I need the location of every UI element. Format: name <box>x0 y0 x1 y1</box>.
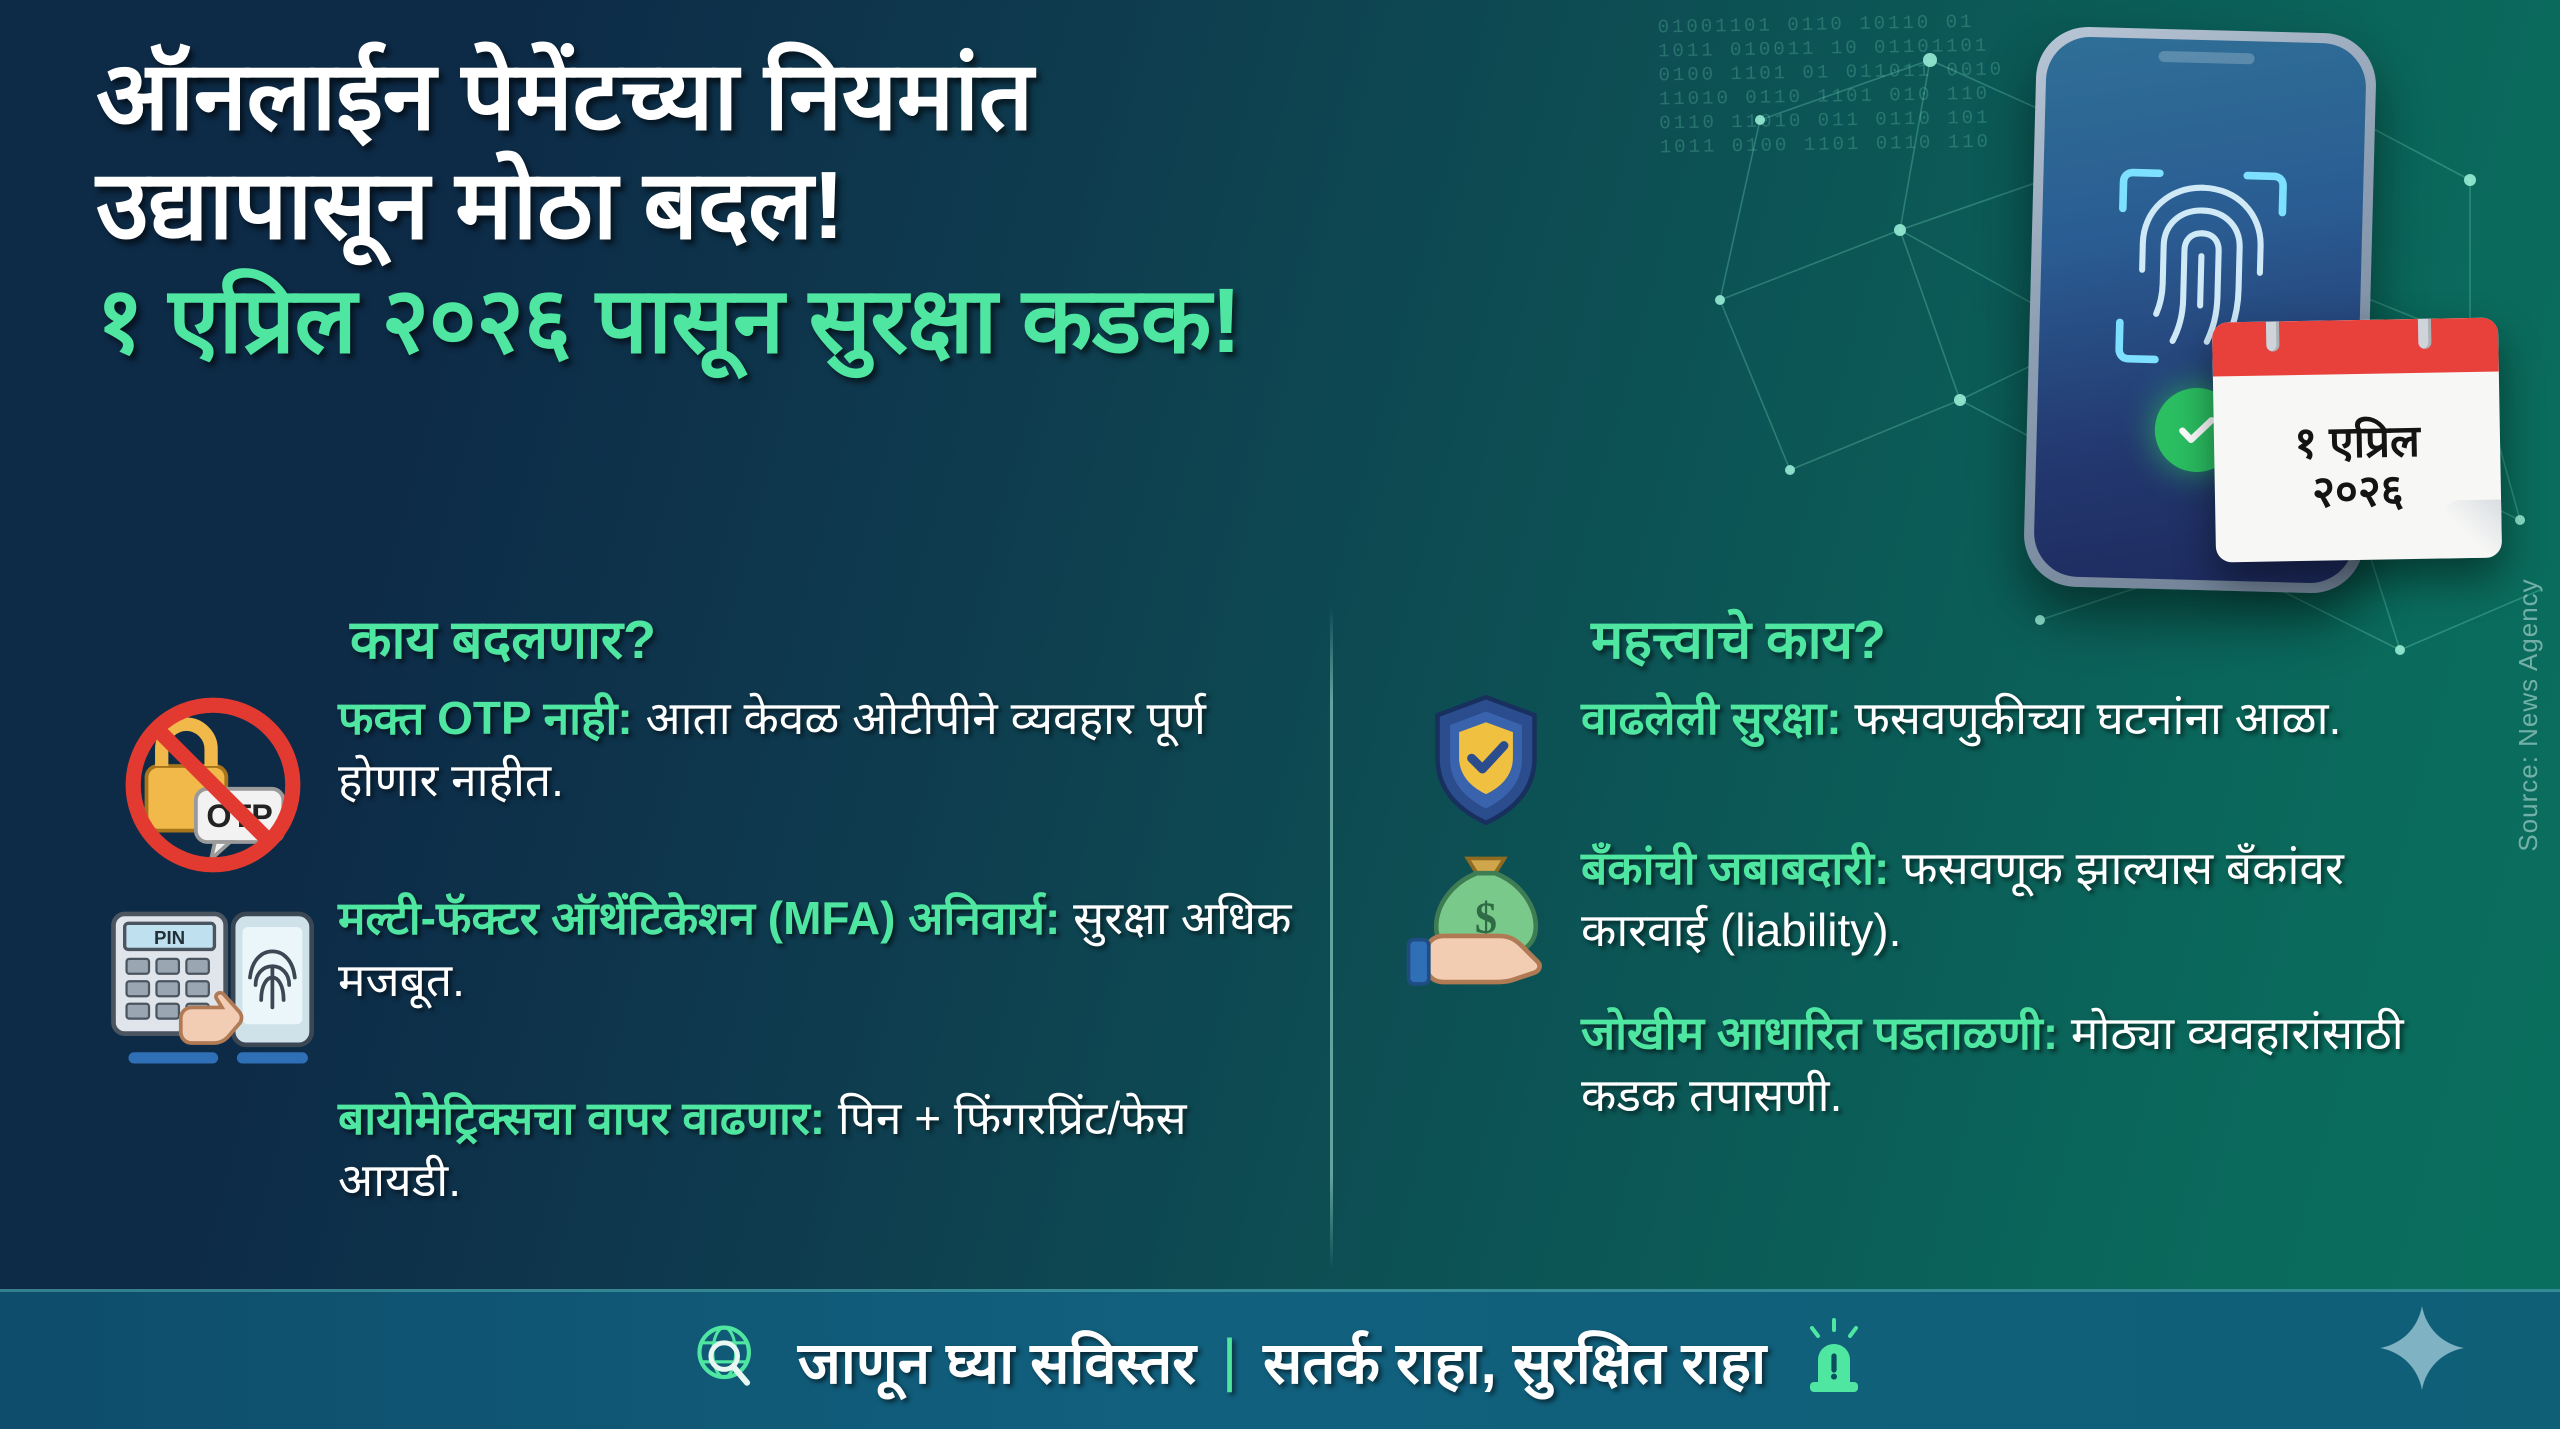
bullet-lead: फक्त OTP नाही: <box>338 692 633 744</box>
right-bullet-list: वाढलेली सुरक्षा: फसवणुकीच्या घटनांना आळा… <box>1391 686 2470 1290</box>
footer-right-text: सतर्क राहा, सुरक्षित राहा <box>1263 1321 1766 1400</box>
shield-check-icon <box>1391 686 1581 830</box>
list-item: OTP फक्त OTP नाही: आता केवळ ओटीपीने व्यव… <box>88 686 1299 880</box>
calendar-page-fold <box>2443 499 2502 558</box>
calendar-ring-left <box>2266 318 2280 352</box>
bullet-lead: मल्टी-फॅक्टर ऑथेंटिकेशन (MFA) अनिवार्य: <box>338 892 1060 944</box>
left-column: काय बदलणार? OTP <box>0 600 1335 1290</box>
list-item: PIN <box>88 886 1299 1080</box>
list-item: बायोमेट्रिक्सचा वापर वाढणार: पिन + फिंगर… <box>88 1086 1299 1211</box>
pin-biometric-keypad-icon: PIN <box>88 886 338 1080</box>
bullet-lead: बँकांची जबाबदारी: <box>1581 842 1889 894</box>
calendar-day: १ एप्रिल <box>2294 417 2421 468</box>
right-column: महत्त्वाचे काय? वाढलेली सुरक्षा: फसवणुकी… <box>1335 600 2560 1290</box>
left-bullet-list: OTP फक्त OTP नाही: आता केवळ ओटीपीने व्यव… <box>88 686 1299 1290</box>
money-bag-hand-icon: $ <box>1391 836 1581 995</box>
calendar-ring-right <box>2418 318 2432 349</box>
headline-block: ऑनलाईन पेमेंटच्या नियमांत उद्यापासून मोठ… <box>96 42 1656 374</box>
calendar-graphic: १ एप्रिल २०२६ <box>2212 318 2502 563</box>
calendar-year: २०२६ <box>2312 466 2404 517</box>
infographic-poster: 01001101 0110 10110 01 1011 010011 10 01… <box>0 0 2560 1429</box>
no-otp-icon: OTP <box>88 686 338 880</box>
calendar-header <box>2212 318 2499 377</box>
bullet-lead: बायोमेट्रिक्सचा वापर वाढणार: <box>338 1092 825 1144</box>
list-item: $ बँकांची जबाबदारी: फसवणूक झाल्यास बँकां… <box>1391 836 2470 995</box>
bullet-text: वाढलेली सुरक्षा: फसवणुकीच्या घटनांना आळा… <box>1581 686 2470 750</box>
content-columns: काय बदलणार? OTP <box>0 600 2560 1290</box>
phone-calendar-artwork: १ एप्रिल २०२६ <box>1880 10 2500 650</box>
bullet-body: फसवणुकीच्या घटनांना आळा. <box>1842 692 2342 744</box>
bullet-icon-spacer <box>88 1086 338 1090</box>
bullet-icon-spacer <box>1391 1001 1581 1005</box>
left-column-title: काय बदलणार? <box>350 600 1299 674</box>
source-credit: Source: News Agency <box>2513 578 2544 851</box>
footer-message: जाणून घ्या सविस्तर | सतर्क राहा, सुरक्षि… <box>798 1321 1766 1400</box>
sparkle-icon <box>2374 1300 2470 1401</box>
bullet-text: बँकांची जबाबदारी: फसवणूक झाल्यास बँकांवर… <box>1581 836 2470 961</box>
headline-line-1: ऑनलाईन पेमेंटच्या नियमांत <box>96 42 1656 151</box>
footer-separator: | <box>1222 1327 1237 1394</box>
bullet-text: फक्त OTP नाही: आता केवळ ओटीपीने व्यवहार … <box>338 686 1299 811</box>
phone-notch <box>2158 51 2254 65</box>
footer-left-text: जाणून घ्या सविस्तर <box>798 1321 1196 1400</box>
bullet-lead: जोखीम आधारित पडताळणी: <box>1581 1007 2058 1059</box>
bullet-text: जोखीम आधारित पडताळणी: मोठ्या व्यवहारांसा… <box>1581 1001 2470 1126</box>
svg-text:PIN: PIN <box>153 927 184 948</box>
bullet-lead: वाढलेली सुरक्षा: <box>1581 692 1842 744</box>
list-item: वाढलेली सुरक्षा: फसवणुकीच्या घटनांना आळा… <box>1391 686 2470 830</box>
list-item: जोखीम आधारित पडताळणी: मोठ्या व्यवहारांसा… <box>1391 1001 2470 1126</box>
siren-alert-icon <box>1798 1318 1870 1403</box>
right-column-title: महत्त्वाचे काय? <box>1591 600 2470 674</box>
footer-bar: जाणून घ्या सविस्तर | सतर्क राहा, सुरक्षि… <box>0 1289 2560 1429</box>
bullet-text: बायोमेट्रिक्सचा वापर वाढणार: पिन + फिंगर… <box>338 1086 1299 1211</box>
globe-search-icon <box>690 1320 766 1401</box>
headline-line-3: १ एप्रिल २०२६ पासून सुरक्षा कडक! <box>96 269 1656 374</box>
bullet-text: मल्टी-फॅक्टर ऑथेंटिकेशन (MFA) अनिवार्य: … <box>338 886 1299 1011</box>
headline-line-2: उद्यापासून मोठा बदल! <box>96 151 1656 260</box>
